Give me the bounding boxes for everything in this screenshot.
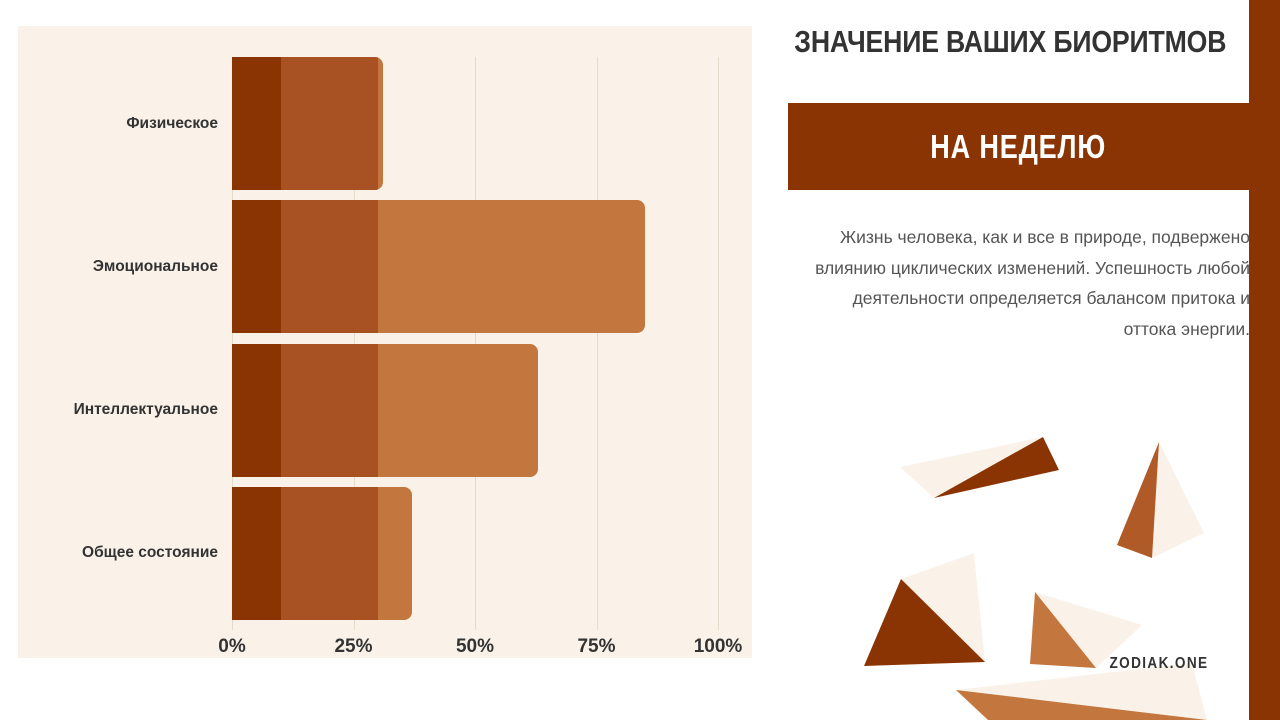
chart-panel: ФизическоеЭмоциональноеИнтеллектуальноеО… xyxy=(18,26,752,658)
x-tick-label: 50% xyxy=(456,636,494,658)
chart-bar-row: Интеллектуальное xyxy=(232,344,718,477)
chart-category-label: Физическое xyxy=(126,115,218,133)
chart-category-label: Общее состояние xyxy=(82,544,218,562)
chart-bar-segment-dark xyxy=(232,344,281,477)
right-accent-bar xyxy=(1249,0,1280,720)
chart-category-label: Интеллектуальное xyxy=(74,401,218,419)
period-banner-label: НА НЕДЕЛЮ xyxy=(931,128,1107,166)
right-panel: ЗНАЧЕНИЕ ВАШИХ БИОРИТМОВ НА НЕДЕЛЮ Жизнь… xyxy=(752,0,1280,720)
x-tick-label: 0% xyxy=(218,636,245,658)
chart-category-label: Эмоциональное xyxy=(93,258,218,276)
chart-bar-segment-mid xyxy=(281,57,378,190)
x-tick-label: 100% xyxy=(694,636,743,658)
chart-bar[interactable] xyxy=(232,200,645,333)
x-tick-label: 75% xyxy=(577,636,615,658)
chart-bar[interactable] xyxy=(232,57,383,190)
chart-bar-row: Эмоциональное xyxy=(232,200,718,333)
chart-bar-row: Общее состояние xyxy=(232,487,718,620)
period-banner: НА НЕДЕЛЮ xyxy=(788,103,1249,190)
chart-bar-segment-mid xyxy=(281,487,378,620)
brand-label: ZODIAK.ONE xyxy=(1109,655,1208,673)
chart-bar[interactable] xyxy=(232,344,538,477)
chart-bar-segment-dark xyxy=(232,57,281,190)
description-paragraph: Жизнь человека, как и все в природе, под… xyxy=(810,222,1250,345)
chart-bar-row: Физическое xyxy=(232,57,718,190)
x-tick-label: 25% xyxy=(334,636,372,658)
chart-x-axis: 0%25%50%75%100% xyxy=(232,636,718,666)
chart-plot-area: ФизическоеЭмоциональноеИнтеллектуальноеО… xyxy=(232,57,732,630)
chart-bar-segment-mid xyxy=(281,344,378,477)
chart-bar-segment-mid xyxy=(281,200,378,333)
page-title: ЗНАЧЕНИЕ ВАШИХ БИОРИТМОВ xyxy=(794,26,1215,59)
chart-bar[interactable] xyxy=(232,487,412,620)
chart-bar-segment-dark xyxy=(232,487,281,620)
chart-bar-segment-dark xyxy=(232,200,281,333)
chart-bar-rows: ФизическоеЭмоциональноеИнтеллектуальноеО… xyxy=(232,57,732,630)
